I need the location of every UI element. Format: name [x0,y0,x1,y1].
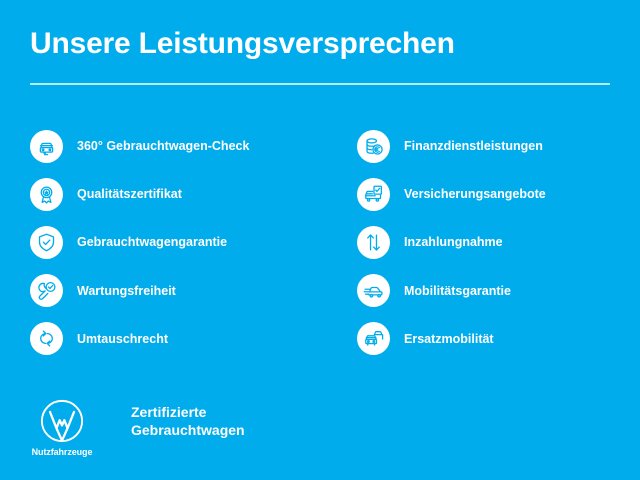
car-check-icon [30,130,63,163]
vw-subbrand-label: Nutzfahrzeuge [32,447,93,457]
up-down-arrows-icon [357,226,390,259]
footer-brand-lockup: Nutzfahrzeuge Zertifizierte Gebrauchtwag… [30,398,245,457]
benefit-label: Qualitätszertifikat [77,187,182,201]
benefit-item-inzahlungnahme[interactable]: Inzahlungnahme [357,218,640,266]
volkswagen-logo [39,398,85,444]
benefit-label: Versicherungsangebote [404,187,546,201]
page-title: Unsere Leistungsversprechen [30,26,610,62]
benefit-item-umtauschrecht[interactable]: Umtauschrecht [30,315,320,363]
car-motion-icon [357,274,390,307]
benefits-right-column: Finanzdienstleistungen Versicherungsange… [320,122,640,363]
benefit-item-gebrauchtwagengarantie[interactable]: Gebrauchtwagengarantie [30,218,320,266]
footer-claim: Zertifizierte Gebrauchtwagen [131,403,245,439]
two-cars-icon [357,322,390,355]
wrench-check-icon [30,274,63,307]
footer-claim-line1: Zertifizierte [131,403,245,421]
shield-check-icon [30,226,63,259]
benefit-label: Mobilitätsgarantie [404,284,511,298]
slide-root: Unsere Leistungsversprechen 360° Gebrauc [0,0,640,480]
benefits-grid: 360° Gebrauchtwagen-Check Qualitätszerti… [0,122,640,363]
benefit-label: 360° Gebrauchtwagen-Check [77,139,249,153]
header: Unsere Leistungsversprechen [30,26,610,85]
benefit-item-versicherungsangebote[interactable]: Versicherungsangebote [357,170,640,218]
benefit-label: Inzahlungnahme [404,235,503,249]
benefit-item-qualitaetszertifikat[interactable]: Qualitätszertifikat [30,170,320,218]
benefit-label: Umtauschrecht [77,332,168,346]
title-divider [30,83,610,85]
benefit-item-ersatzmobilitaet[interactable]: Ersatzmobilität [357,315,640,363]
car-document-icon [357,178,390,211]
benefit-label: Wartungsfreiheit [77,284,176,298]
benefits-left-column: 360° Gebrauchtwagen-Check Qualitätszerti… [0,122,320,363]
coins-euro-icon [357,130,390,163]
benefit-item-mobilitaetsgarantie[interactable]: Mobilitätsgarantie [357,267,640,315]
footer-claim-line2: Gebrauchtwagen [131,421,245,439]
benefit-item-wartungsfreiheit[interactable]: Wartungsfreiheit [30,267,320,315]
award-rosette-icon [30,178,63,211]
benefit-label: Gebrauchtwagengarantie [77,235,227,249]
exchange-arrows-icon [30,322,63,355]
benefit-item-gebrauchtwagen-check[interactable]: 360° Gebrauchtwagen-Check [30,122,320,170]
vw-brand-block: Nutzfahrzeuge [30,398,94,457]
benefit-item-finanzdienstleistungen[interactable]: Finanzdienstleistungen [357,122,640,170]
benefit-label: Ersatzmobilität [404,332,494,346]
benefit-label: Finanzdienstleistungen [404,139,543,153]
